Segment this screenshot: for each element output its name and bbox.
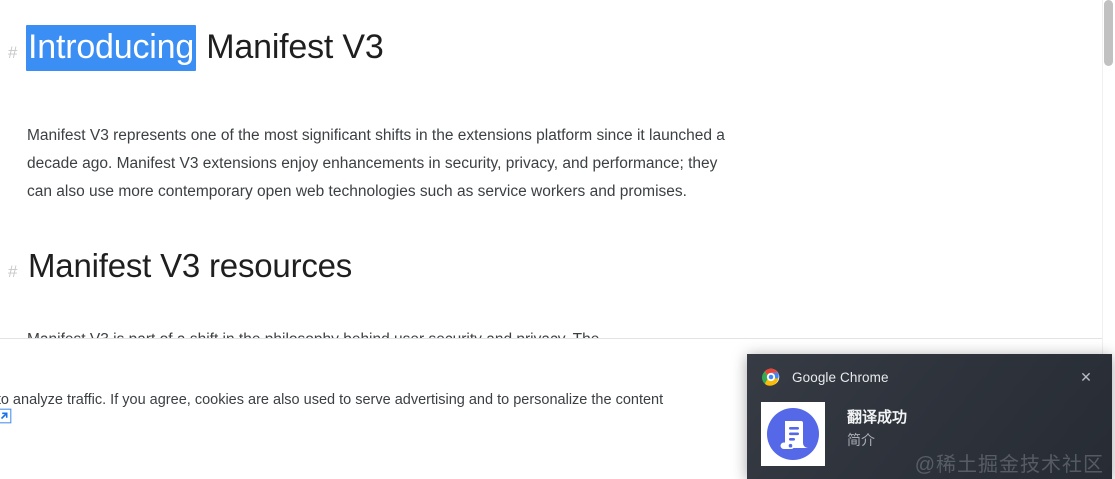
external-link-icon[interactable] (0, 408, 12, 424)
notification-subtitle: 简介 (847, 430, 907, 450)
notification-image (761, 402, 825, 466)
selected-text-highlight[interactable]: Introducing (26, 25, 196, 71)
page-title-rest: Manifest V3 (197, 28, 384, 66)
notification-app-name: Google Chrome (792, 370, 889, 385)
anchor-hash-icon[interactable]: # (8, 263, 28, 280)
section-heading: Manifest V3 resources (28, 247, 352, 285)
notification-header: Google Chrome (747, 354, 1112, 400)
notification-body: 翻译成功 简介 (761, 402, 907, 466)
document-content: # Introducing Manifest V3 Manifest V3 re… (0, 0, 1102, 338)
notification-title: 翻译成功 (847, 408, 907, 428)
chrome-icon (762, 368, 780, 386)
anchor-hash-icon[interactable]: # (8, 44, 28, 61)
page-title: Introducing Manifest V3 (28, 28, 384, 67)
intro-paragraph: Manifest V3 represents one of the most s… (27, 122, 727, 206)
notification-text-block: 翻译成功 简介 (847, 402, 907, 450)
close-icon[interactable]: ✕ (1073, 365, 1099, 389)
heading-introducing-manifest-v3: # Introducing Manifest V3 (8, 28, 384, 67)
clipped-paragraph-line: Manifest V3 is part of a shift in the ph… (27, 326, 767, 338)
watermark-text: @稀土掘金技术社区 (915, 448, 1104, 477)
scrollbar-thumb[interactable] (1104, 0, 1113, 66)
windows-notification-toast[interactable]: Google Chrome ✕ 翻译成功 简介 @稀土掘金技术社区 (747, 354, 1112, 479)
document-scroll-icon (763, 404, 823, 464)
cookie-consent-text: ces and to analyze traffic. If you agree… (0, 390, 663, 410)
heading-manifest-v3-resources: # Manifest V3 resources (8, 247, 352, 285)
